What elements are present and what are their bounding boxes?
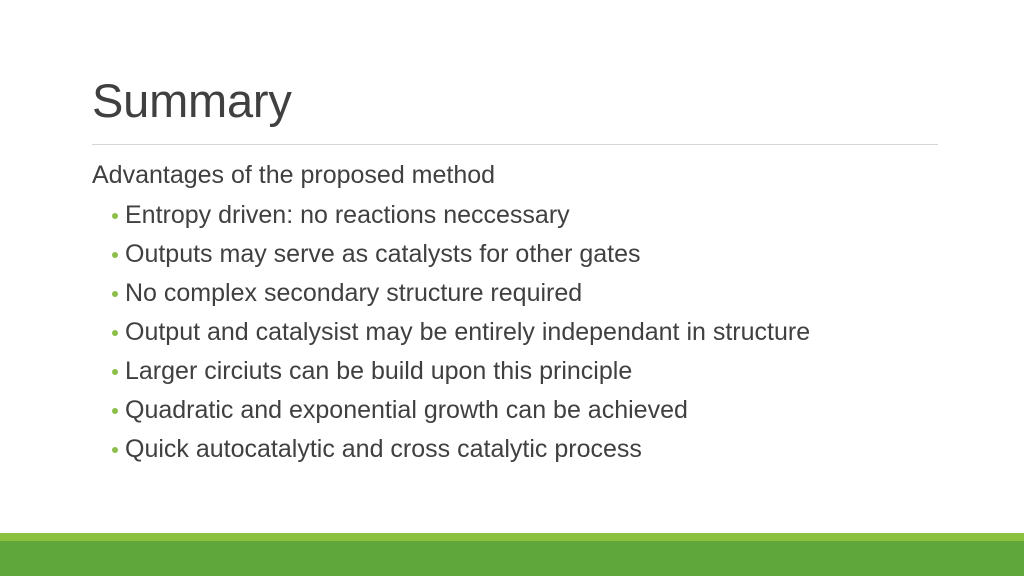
list-item-label: Quadratic and exponential growth can be … <box>125 396 688 424</box>
bullet-list: Entropy driven: no reactions neccessary … <box>92 196 962 469</box>
list-item: Entropy driven: no reactions neccessary <box>92 196 962 235</box>
list-item: Output and catalysist may be entirely in… <box>92 313 962 352</box>
list-item: Quick autocatalytic and cross catalytic … <box>92 430 962 469</box>
bullet-dot-icon <box>112 330 118 336</box>
bullet-dot-icon <box>112 213 118 219</box>
bullet-dot-icon <box>112 369 118 375</box>
presentation-slide: Summary Advantages of the proposed metho… <box>0 0 1024 576</box>
footer-accent-band-dark <box>0 541 1024 576</box>
list-item-label: No complex secondary structure required <box>125 279 582 307</box>
list-item-label: Output and catalysist may be entirely in… <box>125 318 810 346</box>
bullet-dot-icon <box>112 447 118 453</box>
list-item: Quadratic and exponential growth can be … <box>92 391 962 430</box>
bullet-dot-icon <box>112 291 118 297</box>
title-divider <box>92 144 938 145</box>
slide-body: Advantages of the proposed method Entrop… <box>92 158 962 469</box>
body-heading: Advantages of the proposed method <box>92 158 962 192</box>
list-item: No complex secondary structure required <box>92 274 962 313</box>
bullet-dot-icon <box>112 408 118 414</box>
page-title: Summary <box>92 72 938 130</box>
list-item: Larger circiuts can be build upon this p… <box>92 352 962 391</box>
footer-accent-band-light <box>0 533 1024 541</box>
list-item-label: Quick autocatalytic and cross catalytic … <box>125 435 642 463</box>
title-block: Summary <box>92 72 938 144</box>
bullet-dot-icon <box>112 252 118 258</box>
list-item-label: Outputs may serve as catalysts for other… <box>125 240 641 268</box>
list-item-label: Entropy driven: no reactions neccessary <box>125 201 570 229</box>
list-item-label: Larger circiuts can be build upon this p… <box>125 357 632 385</box>
list-item: Outputs may serve as catalysts for other… <box>92 235 962 274</box>
